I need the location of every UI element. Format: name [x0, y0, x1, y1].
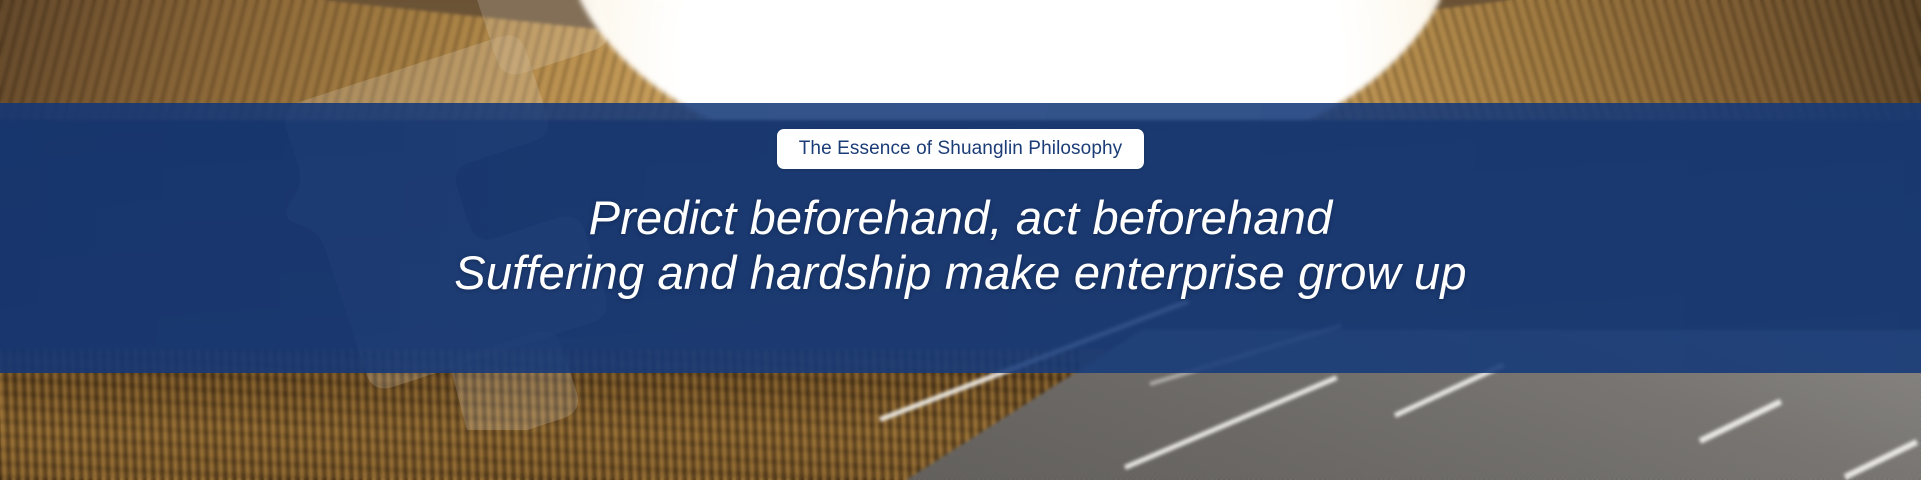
banner-content: The Essence of Shuanglin Philosophy Pred…: [0, 103, 1921, 373]
hero-banner: The Essence of Shuanglin Philosophy Pred…: [0, 0, 1921, 480]
headline-line-2: Suffering and hardship make enterprise g…: [454, 245, 1466, 300]
philosophy-badge[interactable]: The Essence of Shuanglin Philosophy: [777, 129, 1145, 169]
headline-line-1: Predict beforehand, act beforehand: [454, 190, 1466, 245]
headline: Predict beforehand, act beforehand Suffe…: [454, 190, 1466, 301]
